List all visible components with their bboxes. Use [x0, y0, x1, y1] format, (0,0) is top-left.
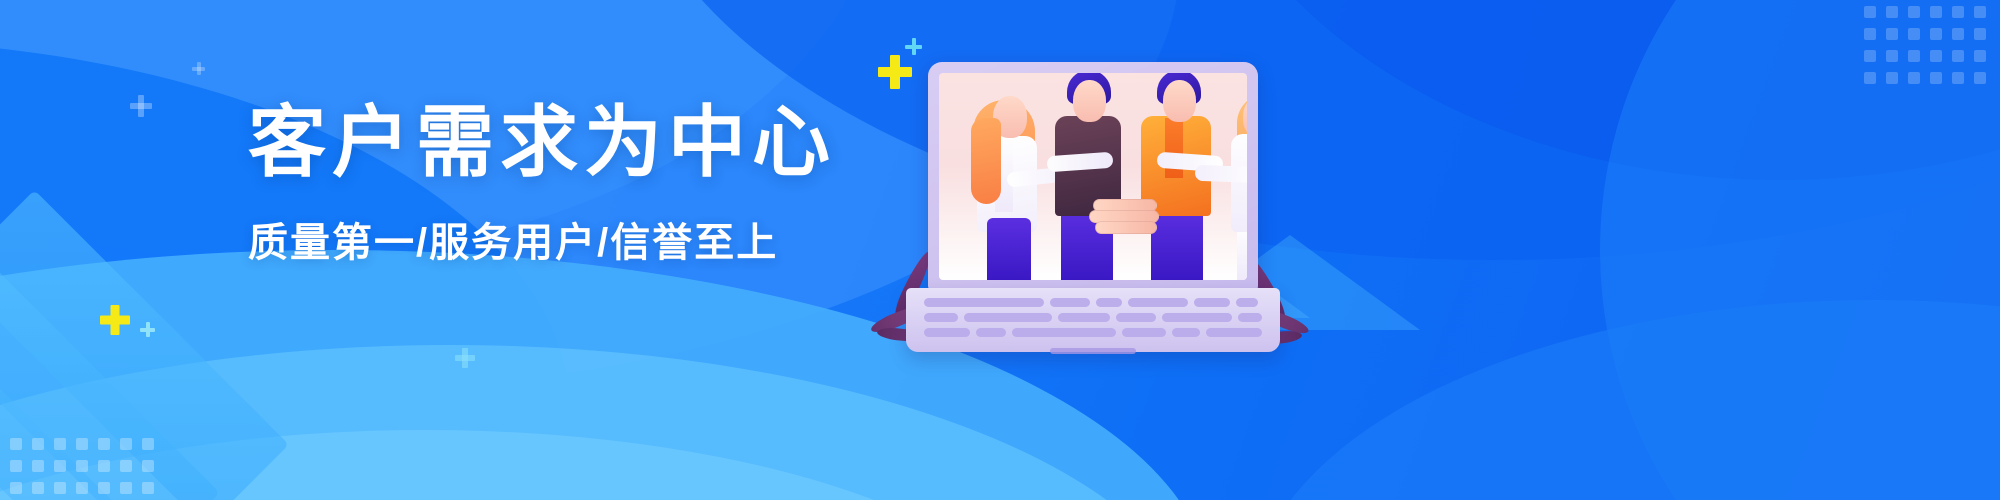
- grid-dot: [1930, 50, 1942, 62]
- keyboard-key: [1096, 298, 1122, 307]
- grid-dot: [1908, 50, 1920, 62]
- grid-dot: [1952, 50, 1964, 62]
- keyboard-key: [1012, 328, 1116, 337]
- grid-dot: [1908, 28, 1920, 40]
- keyboard-row: [924, 328, 1262, 337]
- arm: [1195, 165, 1247, 183]
- head: [1163, 80, 1196, 122]
- grid-dot: [1974, 28, 1986, 40]
- grid-dot: [98, 438, 110, 450]
- grid-dot: [120, 482, 132, 494]
- grid-dot: [120, 460, 132, 472]
- legs: [987, 218, 1031, 280]
- grid-dot: [142, 438, 154, 450]
- grid-dot: [1908, 6, 1920, 18]
- grid-dot: [1952, 72, 1964, 84]
- grid-dot: [32, 482, 44, 494]
- grid-dot: [32, 438, 44, 450]
- grid-dot: [1952, 28, 1964, 40]
- keyboard-key: [964, 313, 1052, 322]
- grid-dot: [1864, 6, 1876, 18]
- plus-cyan-bottom-icon: [140, 322, 155, 337]
- dot-grid-bottom-left: [10, 438, 154, 494]
- torso: [1231, 134, 1247, 232]
- keyboard-key: [1122, 328, 1166, 337]
- plus-white-left-icon: [130, 95, 152, 117]
- background-wave-right-bottom: [1250, 300, 2000, 500]
- plus-yellow-bottom-icon: [100, 305, 130, 335]
- laptop-keyboard: [924, 298, 1262, 337]
- grid-dot: [120, 438, 132, 450]
- keyboard-key: [1162, 313, 1232, 322]
- marketing-banner: 客户需求为中心 质量第一/服务用户/信誉至上: [0, 0, 2000, 500]
- banner-headline: 客户需求为中心: [248, 100, 868, 184]
- person-man-dark-shirt: [1043, 73, 1131, 280]
- grid-dot: [76, 482, 88, 494]
- keyboard-key: [976, 328, 1006, 337]
- person-woman-white-shirt: [1221, 82, 1247, 280]
- person-woman-white-blazer: [963, 84, 1049, 280]
- legs: [1237, 224, 1247, 280]
- head: [1073, 80, 1106, 122]
- grid-dot: [76, 460, 88, 472]
- grid-dot: [1974, 50, 1986, 62]
- grid-dot: [1886, 50, 1898, 62]
- grid-dot: [54, 460, 66, 472]
- grid-dot: [10, 482, 22, 494]
- grid-dot: [1886, 72, 1898, 84]
- laptop-teamwork-illustration: [900, 40, 1320, 370]
- keyboard-row: [924, 298, 1262, 307]
- keyboard-key: [1172, 328, 1200, 337]
- keyboard-key: [1050, 298, 1090, 307]
- keyboard-key: [1206, 328, 1262, 337]
- keyboard-key: [924, 298, 1044, 307]
- grid-dot: [10, 460, 22, 472]
- dot-grid-top-right: [1864, 6, 1986, 84]
- banner-subheadline: 质量第一/服务用户/信誉至上: [248, 210, 868, 268]
- grid-dot: [142, 482, 154, 494]
- grid-dot: [1974, 72, 1986, 84]
- grid-dot: [1930, 72, 1942, 84]
- plus-cyan-mid-icon: [455, 348, 475, 368]
- grid-dot: [1864, 72, 1876, 84]
- laptop-trackpad: [1050, 348, 1136, 354]
- plus-white-left-sm-icon: [192, 62, 205, 75]
- grid-dot: [1864, 50, 1876, 62]
- grid-dot: [1886, 6, 1898, 18]
- grid-dot: [1886, 28, 1898, 40]
- grid-dot: [1952, 6, 1964, 18]
- grid-dot: [1908, 72, 1920, 84]
- grid-dot: [98, 482, 110, 494]
- hair-front: [971, 118, 1001, 204]
- grid-dot: [142, 460, 154, 472]
- grid-dot: [10, 438, 22, 450]
- grid-dot: [1864, 28, 1876, 40]
- keyboard-key: [1236, 298, 1258, 307]
- laptop-screen: [939, 73, 1247, 280]
- laptop-lid: [928, 62, 1258, 290]
- grid-dot: [98, 460, 110, 472]
- keyboard-key: [1116, 313, 1156, 322]
- keyboard-key: [1194, 298, 1230, 307]
- laptop-keyboard-base: [906, 288, 1280, 352]
- keyboard-key: [1058, 313, 1110, 322]
- grid-dot: [32, 460, 44, 472]
- grid-dot: [1930, 28, 1942, 40]
- grid-dot: [1930, 6, 1942, 18]
- grid-dot: [1974, 6, 1986, 18]
- grid-dot: [54, 482, 66, 494]
- keyboard-row: [924, 313, 1262, 322]
- banner-text-block: 客户需求为中心 质量第一/服务用户/信誉至上: [248, 100, 868, 268]
- stacked-hands-icon: [1089, 199, 1163, 239]
- keyboard-key: [1238, 313, 1262, 322]
- keyboard-key: [924, 328, 970, 337]
- keyboard-key: [924, 313, 958, 322]
- keyboard-key: [1128, 298, 1188, 307]
- grid-dot: [54, 438, 66, 450]
- grid-dot: [76, 438, 88, 450]
